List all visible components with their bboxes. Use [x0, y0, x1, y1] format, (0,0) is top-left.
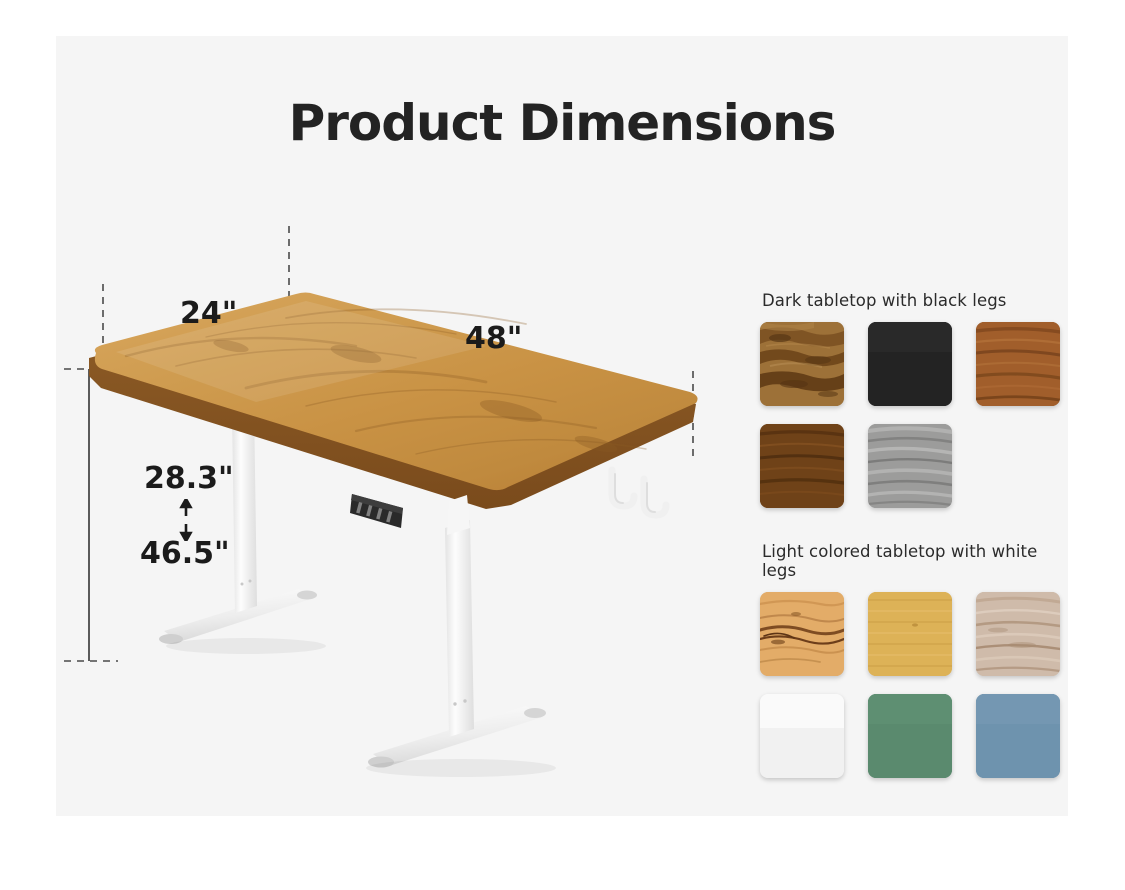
page-title: Product Dimensions — [56, 94, 1068, 152]
wood-grain-icon — [976, 592, 1060, 676]
swatch-grid-dark — [760, 322, 1060, 508]
swatch-group-dark: Dark tabletop with black legs — [760, 291, 1060, 508]
infographic-panel: Product Dimensions — [56, 36, 1068, 816]
headphone-hooks — [612, 470, 666, 515]
swatch-grid-light — [760, 592, 1060, 778]
swatch-dusty-blue[interactable] — [976, 694, 1060, 778]
swatch-grey-marble[interactable] — [868, 424, 952, 508]
swatch-sage-green[interactable] — [868, 694, 952, 778]
swatch-dark-walnut[interactable] — [760, 424, 844, 508]
swatch-group-dark-title: Dark tabletop with black legs — [762, 291, 1060, 310]
swatch-group-light-title: Light colored tabletop with white legs — [762, 542, 1060, 580]
dimension-depth-label: 24" — [180, 296, 237, 331]
swatch-group-light: Light colored tabletop with white legs — [760, 542, 1060, 778]
wood-grain-icon — [868, 592, 952, 676]
solid-color-icon — [868, 694, 952, 778]
marble-grain-icon — [868, 424, 952, 508]
solid-color-icon — [976, 694, 1060, 778]
desk-control-keypad[interactable] — [350, 494, 403, 528]
solid-color-icon — [760, 694, 844, 778]
swatch-light-maple[interactable] — [760, 592, 844, 676]
dimension-width-label: 48" — [465, 321, 522, 356]
swatch-rustic-red-oak[interactable] — [976, 322, 1060, 406]
swatch-washed-oak[interactable] — [976, 592, 1060, 676]
desk-drawing — [56, 206, 736, 826]
swatch-white[interactable] — [760, 694, 844, 778]
height-range-arrow-icon — [173, 499, 199, 541]
product-illustration: 24" 48" 28.3" 46.5" — [56, 206, 736, 826]
dimension-height-min-label: 28.3" — [144, 461, 234, 496]
desk-leg-front — [368, 495, 546, 768]
solid-color-icon — [868, 322, 952, 406]
swatch-rustic-brown[interactable] — [760, 322, 844, 406]
wood-grain-icon — [760, 322, 844, 406]
swatch-black[interactable] — [868, 322, 952, 406]
color-options: Dark tabletop with black legs — [760, 291, 1060, 778]
swatch-golden-bamboo[interactable] — [868, 592, 952, 676]
wood-grain-icon — [976, 322, 1060, 406]
wood-grain-icon — [760, 424, 844, 508]
dimension-height-max-label: 46.5" — [140, 536, 230, 571]
wood-grain-icon — [760, 592, 844, 676]
